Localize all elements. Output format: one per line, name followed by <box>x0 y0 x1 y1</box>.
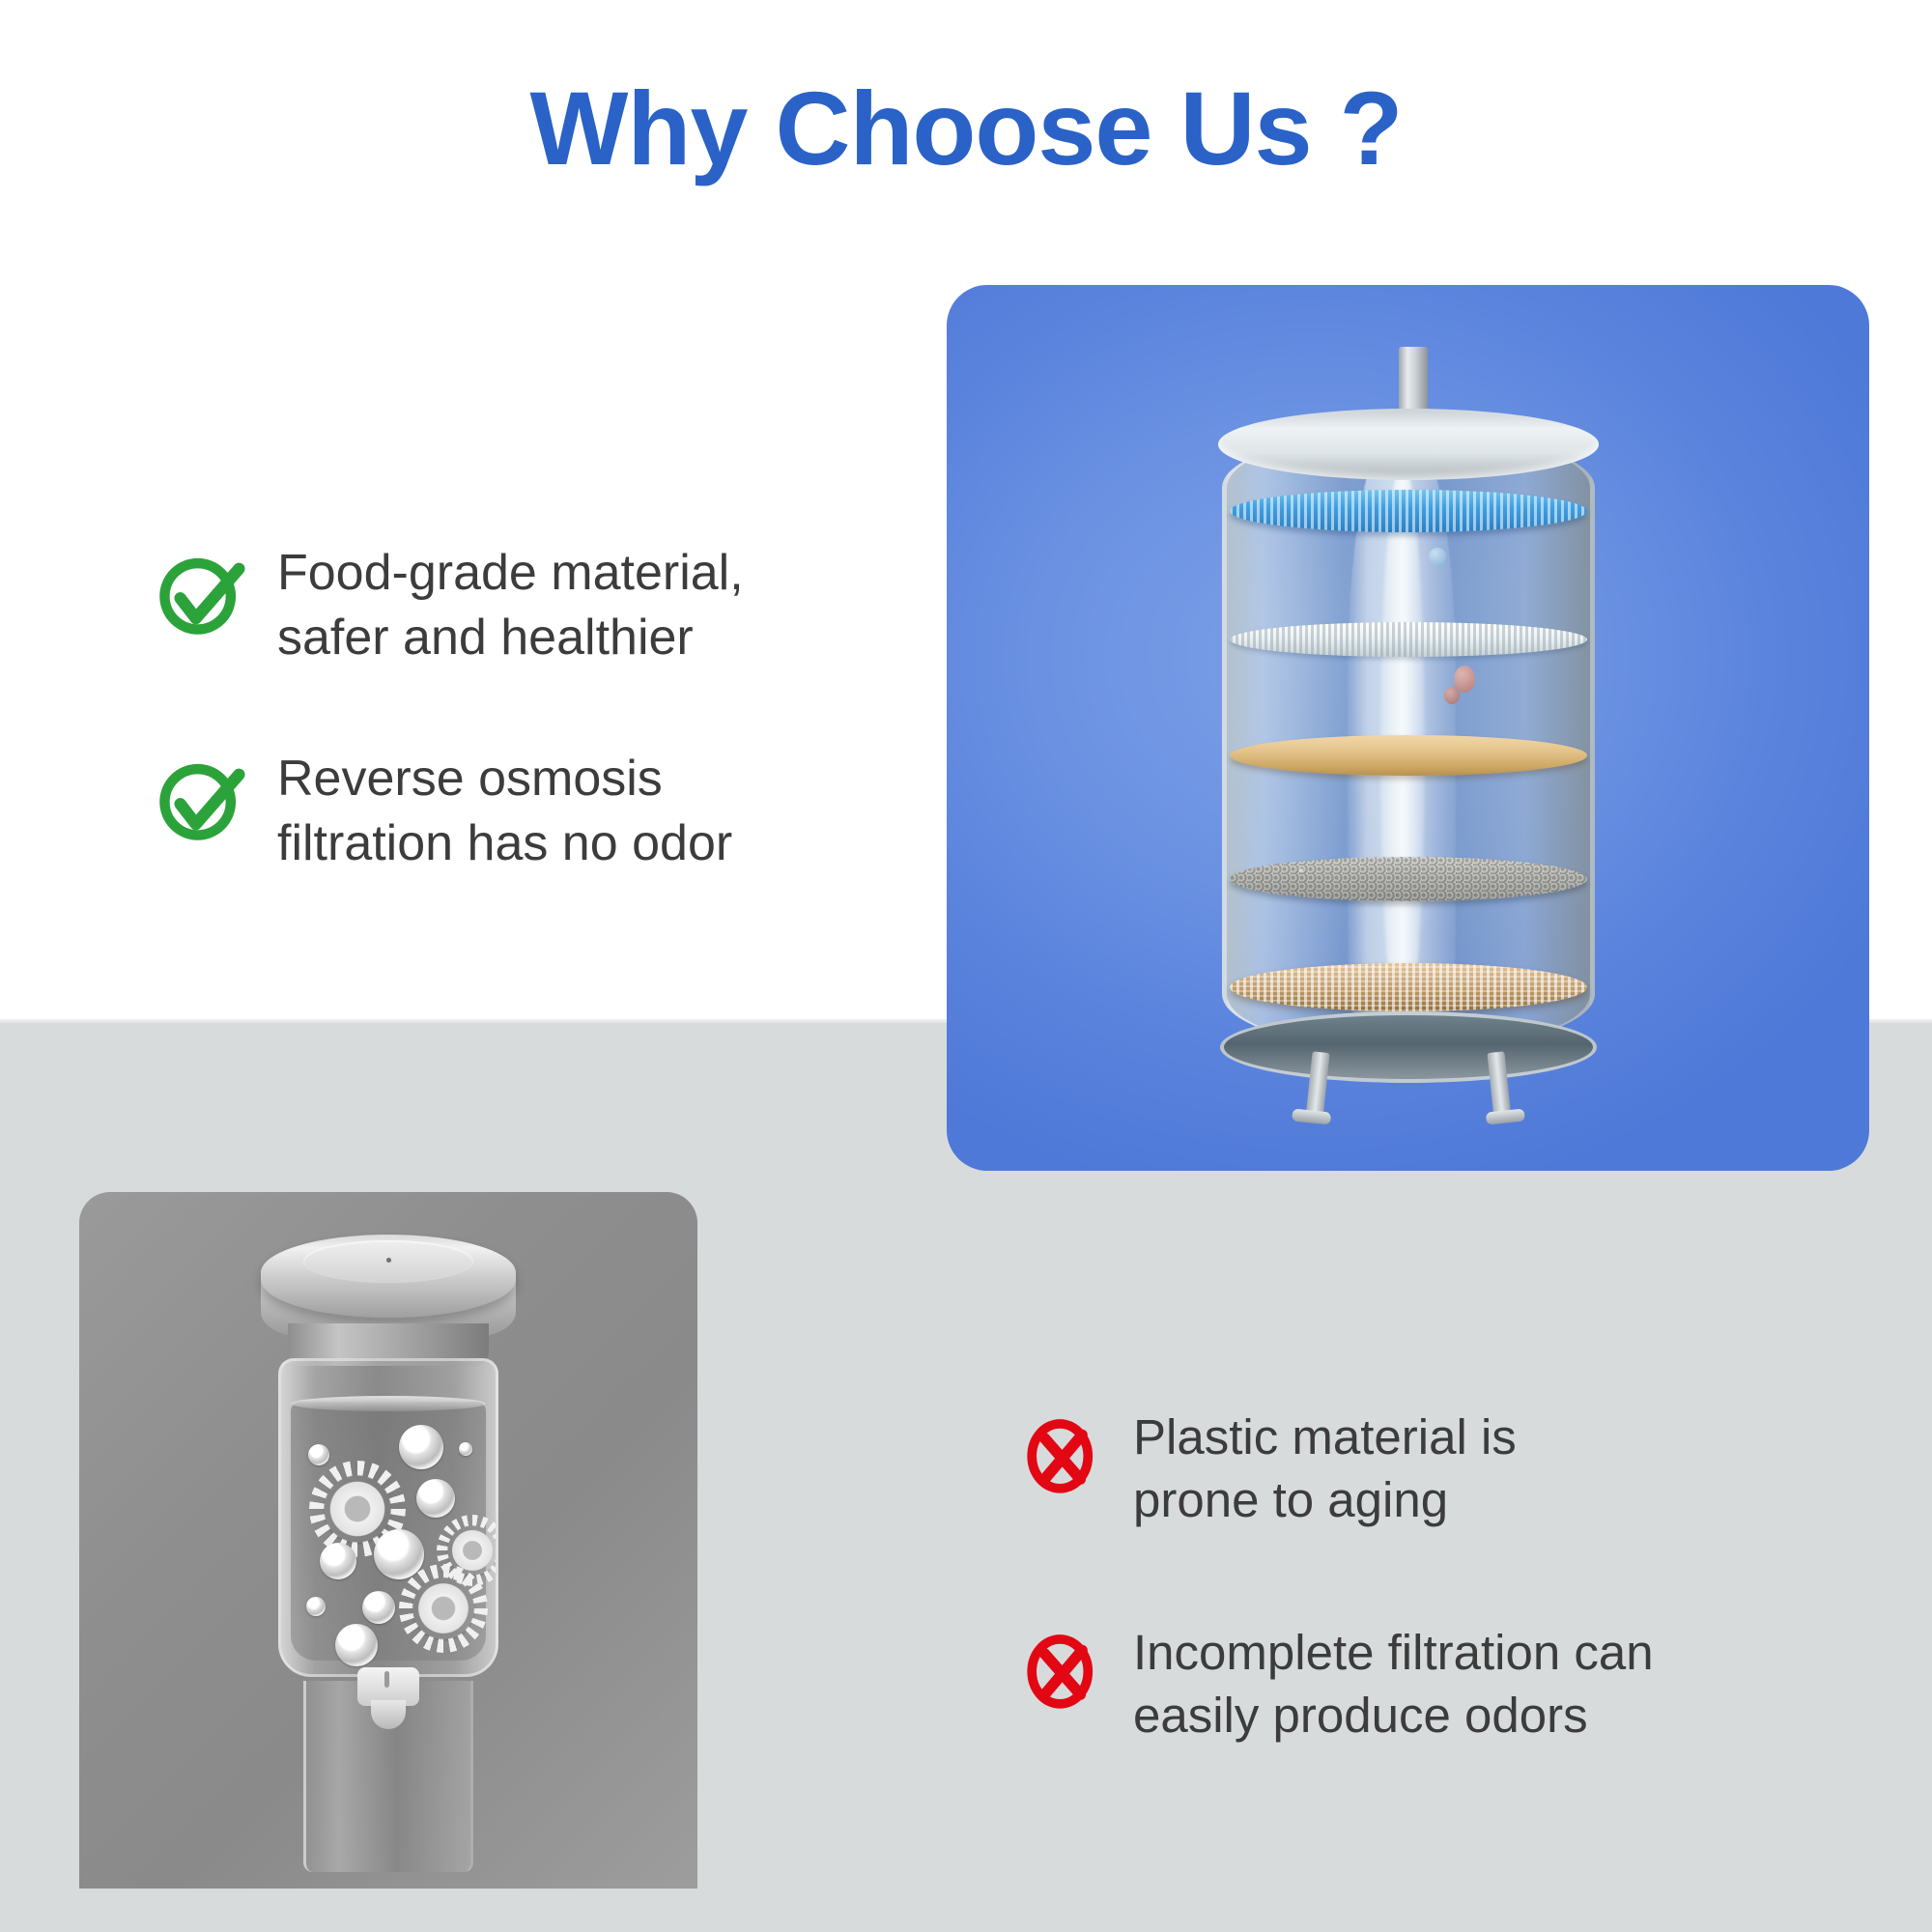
cons-item-2-line1: Incomplete filtration can <box>1133 1625 1654 1680</box>
pros-item-2-line2: filtration has no odor <box>277 815 732 871</box>
filtered-particle-red-b <box>1444 687 1460 704</box>
pros-item-1-text: Food-grade material, safer and healthier <box>277 541 744 669</box>
cons-list: Plastic material is prone to aging Incom… <box>1019 1406 1889 1835</box>
red-x-circle-icon <box>1019 1625 1104 1710</box>
pros-item-2: Reverse osmosis filtration has no odor <box>155 747 869 875</box>
filter-layer-tan-carbon-block-disc <box>1230 735 1587 776</box>
bad-product-panel <box>79 1192 697 1889</box>
filter-layer-white-fine-mesh-screen <box>1230 622 1587 657</box>
filter-layer-bronze-sediment-mesh-disc <box>1230 963 1587 1011</box>
pros-item-1: Food-grade material, safer and healthier <box>155 541 869 669</box>
contaminant-particle <box>362 1591 395 1624</box>
green-check-circle-icon <box>155 753 246 844</box>
page-title: Why Choose Us ? <box>0 71 1932 187</box>
pros-item-1-line2: safer and healthier <box>277 610 694 666</box>
contaminant-particle <box>306 1597 326 1616</box>
multi-stage-filter-cartridge-illustration <box>1201 347 1616 1110</box>
contaminant-microbe <box>324 1475 391 1543</box>
contaminant-microbe <box>412 1577 474 1639</box>
contaminant-particle <box>416 1479 455 1518</box>
contaminant-particle <box>459 1442 472 1456</box>
cons-item-2-line2: easily produce odors <box>1133 1688 1588 1743</box>
contaminant-particle <box>320 1543 356 1579</box>
cons-item-1-line2: prone to aging <box>1133 1472 1448 1527</box>
good-product-panel <box>947 285 1869 1171</box>
filter-layer-gray-granular-carbon-disc <box>1230 857 1587 901</box>
pros-item-2-text: Reverse osmosis filtration has no odor <box>277 747 732 875</box>
contaminant-particle <box>335 1624 378 1666</box>
pros-item-1-line1: Food-grade material, <box>277 545 744 601</box>
contaminant-particle <box>308 1444 329 1465</box>
water-surface-line <box>291 1396 486 1411</box>
red-x-circle-icon <box>1019 1409 1104 1494</box>
contaminant-particle <box>399 1425 443 1469</box>
plastic-filter-transparent-body <box>278 1358 498 1677</box>
plastic-filter-spout-slot <box>384 1671 389 1688</box>
cons-item-1-line1: Plastic material is <box>1133 1409 1517 1464</box>
pros-list: Food-grade material, safer and healthier… <box>155 541 869 952</box>
cons-item-1: Plastic material is prone to aging <box>1019 1406 1889 1532</box>
pros-item-2-line1: Reverse osmosis <box>277 751 663 807</box>
green-check-circle-icon <box>155 547 246 639</box>
cons-item-2-text: Incomplete filtration can easily produce… <box>1133 1621 1654 1747</box>
filter-layer-blue-mesh-membrane <box>1230 490 1587 532</box>
cons-item-1-text: Plastic material is prone to aging <box>1133 1406 1517 1532</box>
plastic-filter-illustration <box>243 1235 533 1872</box>
filtered-particle-blue <box>1429 548 1446 565</box>
plastic-filter-lid-vent-dot <box>386 1258 391 1263</box>
cons-item-2: Incomplete filtration can easily produce… <box>1019 1621 1889 1747</box>
cartridge-bottom-base <box>1220 1011 1597 1083</box>
cartridge-top-cap <box>1218 409 1599 480</box>
